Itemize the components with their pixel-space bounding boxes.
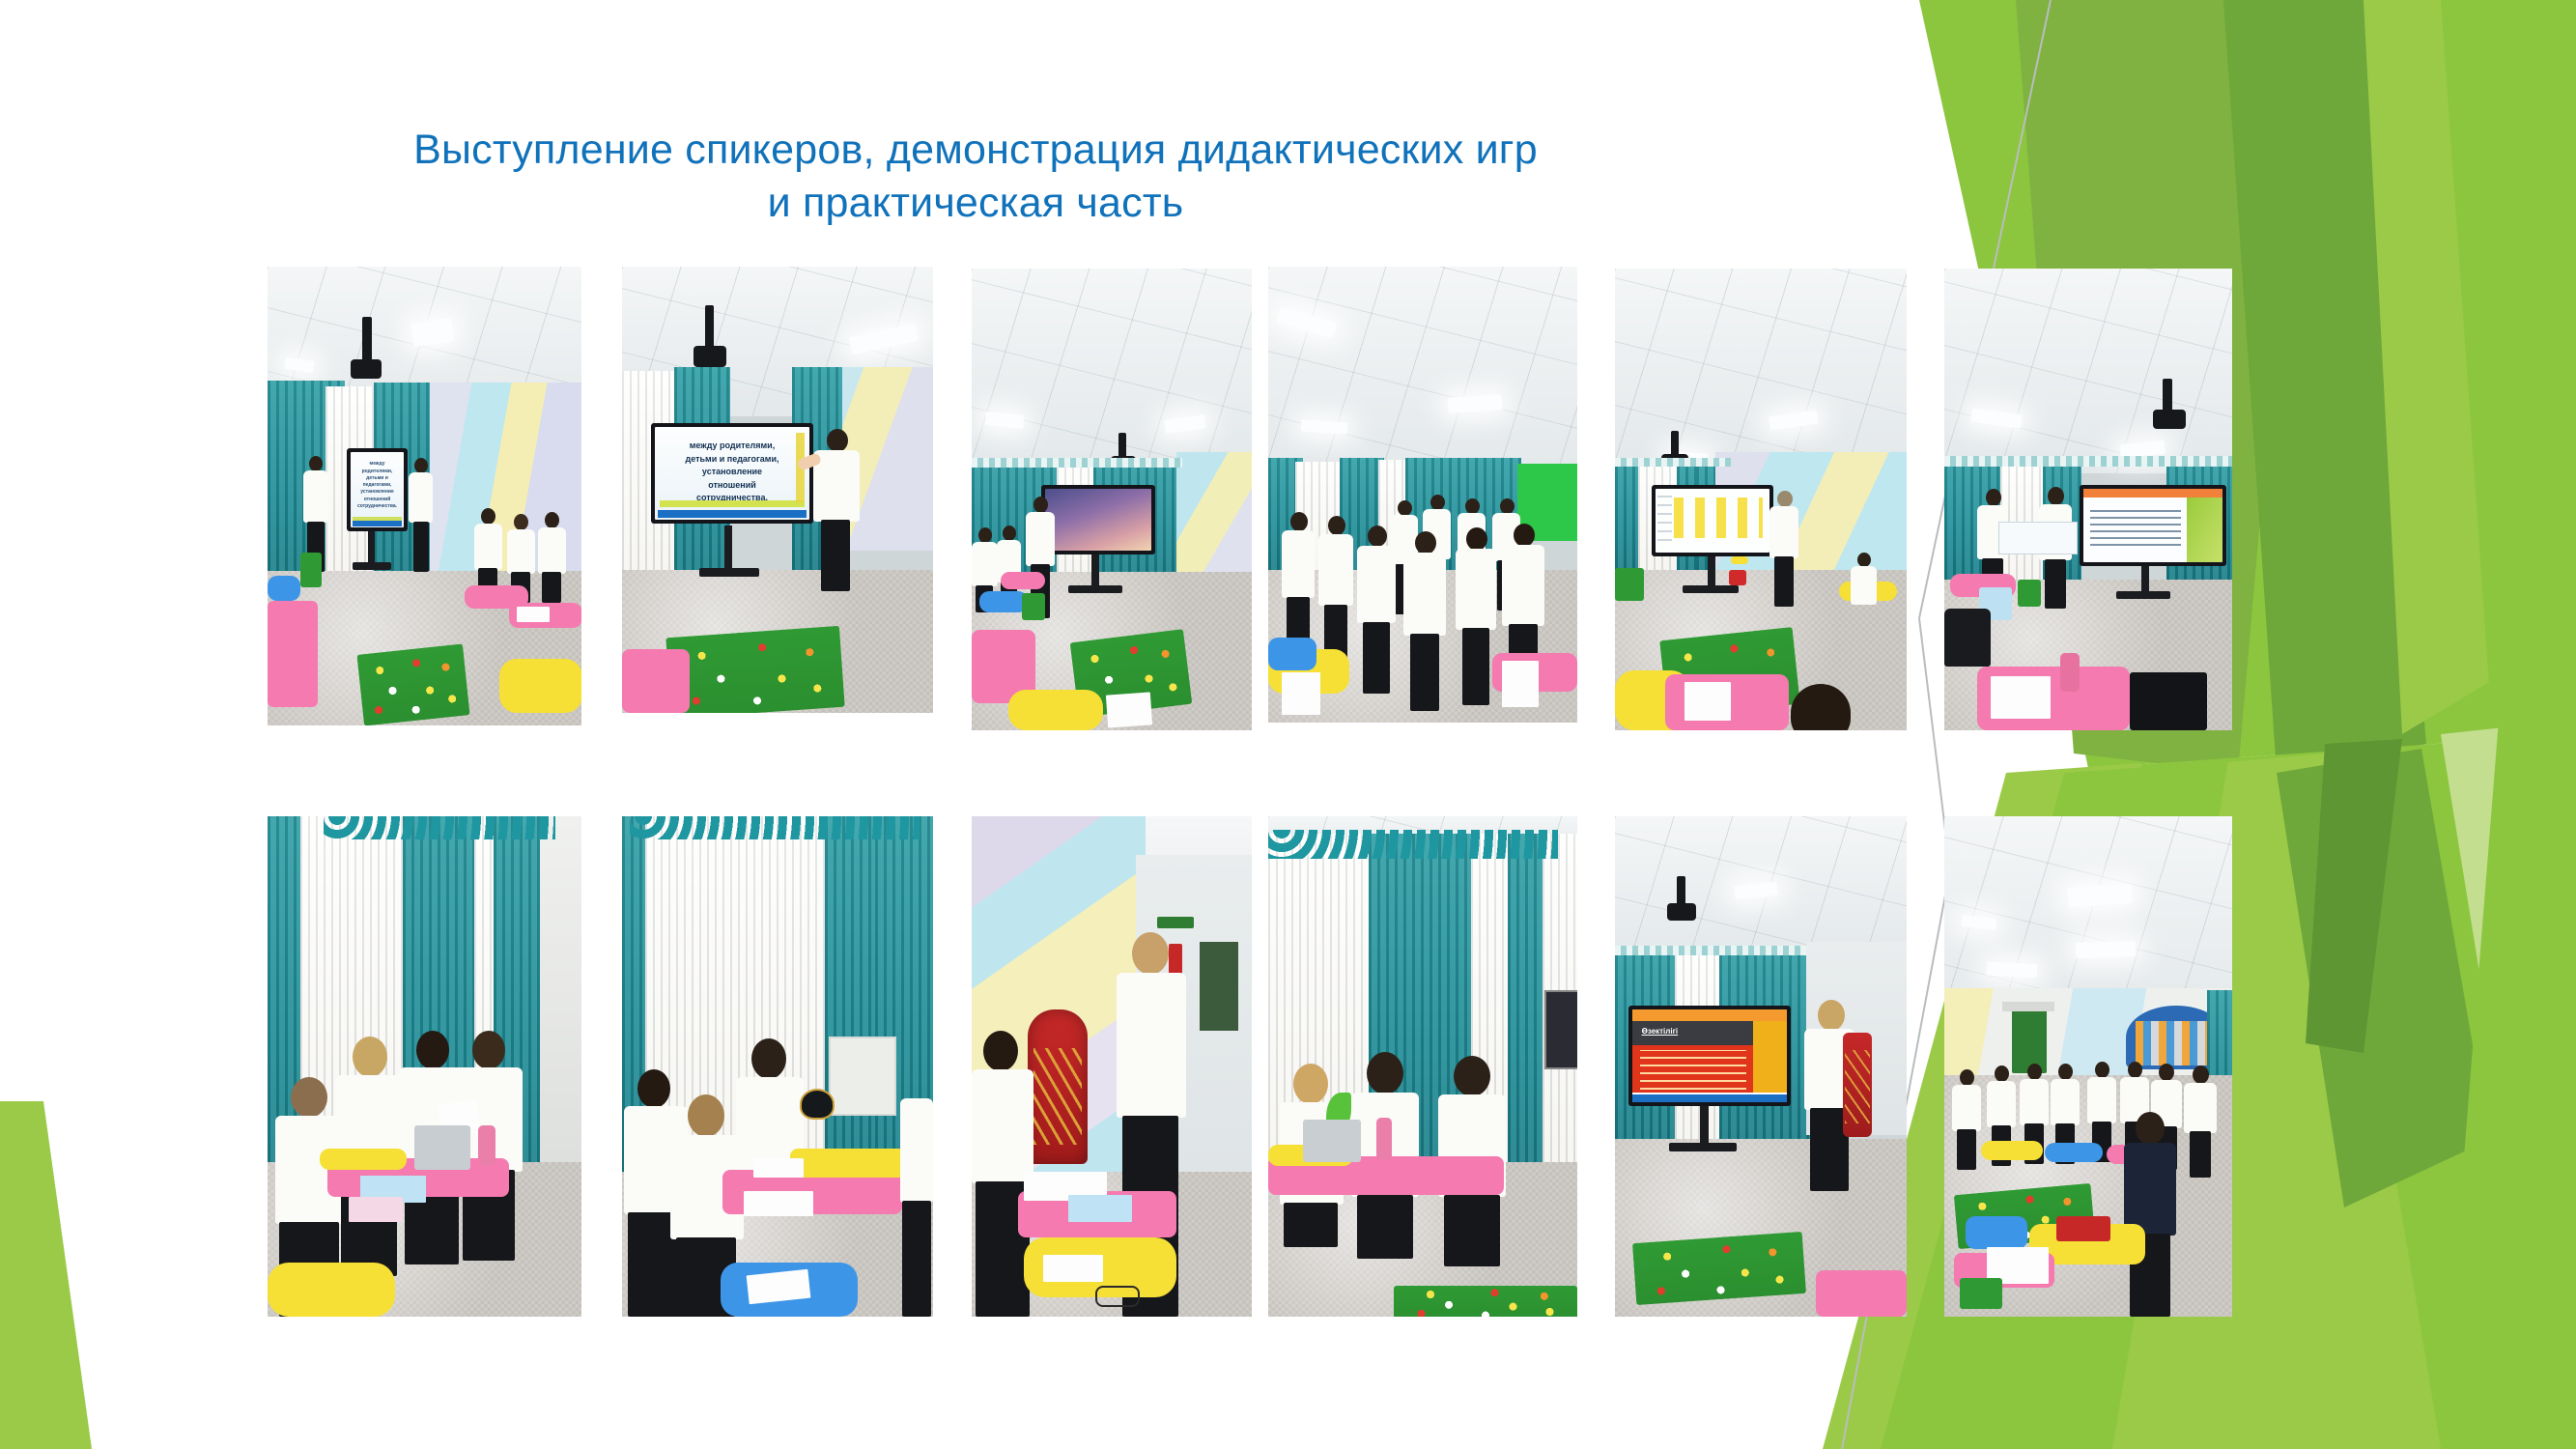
- shape-top-light: [2364, 0, 2499, 734]
- gallery-photo[interactable]: Өзектілігі: [1615, 816, 1907, 1317]
- gallery-photo[interactable]: [268, 816, 581, 1317]
- shape-bottom-pale: [2441, 720, 2576, 1101]
- photo-screen: Өзектілігі: [1628, 1006, 1791, 1106]
- shape-bottom-dark: [2277, 749, 2489, 1207]
- gallery-photo[interactable]: [1944, 269, 2232, 730]
- page-title: Выступление спикеров, демонстрация дидак…: [290, 124, 1661, 230]
- gallery-photo[interactable]: между родителями,детьми и педагогами,уст…: [268, 267, 581, 725]
- gallery-photo[interactable]: [1268, 816, 1577, 1317]
- photo-screen: между родителями,детьми и педагогами,уст…: [651, 423, 813, 524]
- slide-canvas: Выступление спикеров, демонстрация дидак…: [0, 0, 2576, 1449]
- photo-screen: между родителями,детьми и педагогами,уст…: [347, 448, 408, 531]
- decor-bottom-left-triangle: [0, 1101, 184, 1449]
- gallery-photo[interactable]: [1615, 269, 1907, 730]
- shape-corner-triangle: [0, 1101, 92, 1449]
- shape-bottom-edge: [2441, 715, 2576, 1449]
- photo-screen: [2080, 485, 2226, 566]
- gallery-photo[interactable]: [972, 269, 1252, 730]
- photo-screen: [1041, 485, 1155, 554]
- gallery-photo[interactable]: [1268, 267, 1577, 723]
- photo-screen: [1652, 485, 1773, 556]
- gallery-photo[interactable]: [622, 816, 933, 1317]
- shape-top-right: [2441, 0, 2576, 686]
- gallery-photo[interactable]: [972, 816, 1252, 1317]
- shape-bottom-deep: [2306, 739, 2402, 1053]
- shape-top-dark: [2223, 0, 2426, 773]
- gallery-photo[interactable]: [1944, 816, 2232, 1317]
- gallery-photo[interactable]: между родителями,детьми и педагогами,уст…: [622, 267, 933, 713]
